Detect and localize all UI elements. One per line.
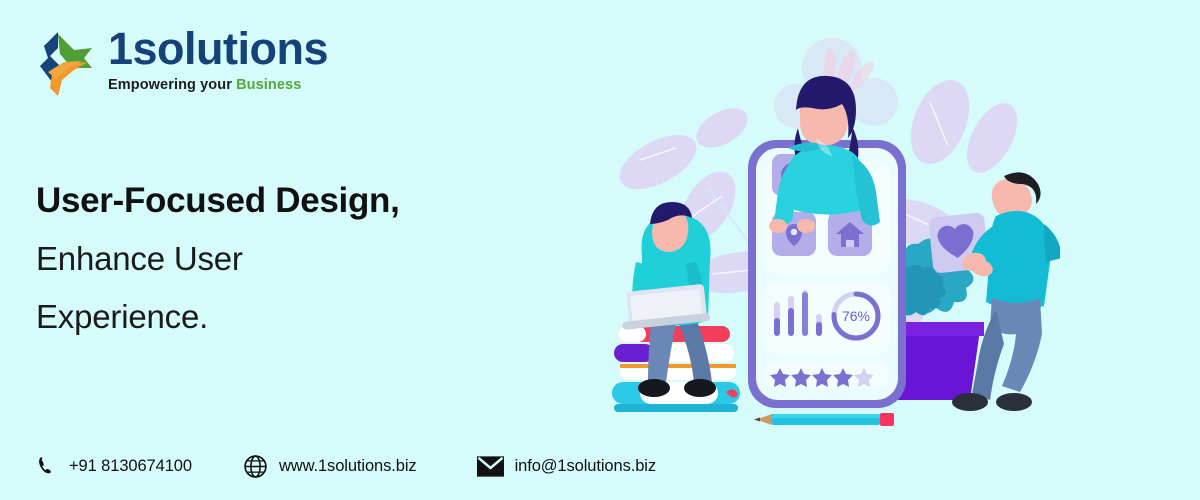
pencil-icon xyxy=(754,413,894,426)
book-stack-icon xyxy=(612,326,740,412)
marketing-banner: 1solutions Empowering your Business User… xyxy=(0,0,1200,500)
contact-email[interactable]: info@1solutions.biz xyxy=(477,452,656,480)
contact-email-text: info@1solutions.biz xyxy=(515,457,656,476)
contact-phone-text: +91 8130674100 xyxy=(69,457,192,476)
headline-line-2: Enhance User xyxy=(36,242,596,275)
envelope-icon xyxy=(477,452,505,480)
donut-label: 76% xyxy=(842,308,870,324)
headline-line-1: User-Focused Design, xyxy=(36,183,596,218)
headline-line-3: Experience. xyxy=(36,300,596,333)
ux-design-team-illustration: 76% xyxy=(600,10,1060,450)
brand-tagline-highlight: Business xyxy=(236,77,301,93)
headline: User-Focused Design, Enhance User Experi… xyxy=(36,183,596,333)
illustration-canvas: 76% xyxy=(600,10,1060,450)
contact-bar: +91 8130674100 www.1solutions.biz info@1… xyxy=(33,452,656,480)
brand-logo[interactable]: 1solutions Empowering your Business xyxy=(28,26,328,102)
phone-icon xyxy=(33,452,61,480)
contact-phone[interactable]: +91 8130674100 xyxy=(33,452,192,480)
contact-website-text: www.1solutions.biz xyxy=(279,457,417,476)
brand-tagline-prefix: Empowering your xyxy=(108,77,236,93)
1solutions-arrow-logo-icon xyxy=(28,28,106,102)
brand-tagline: Empowering your Business xyxy=(108,77,328,93)
contact-website[interactable]: www.1solutions.biz xyxy=(242,452,417,480)
globe-icon xyxy=(242,452,270,480)
brand-name: 1solutions xyxy=(108,26,328,71)
